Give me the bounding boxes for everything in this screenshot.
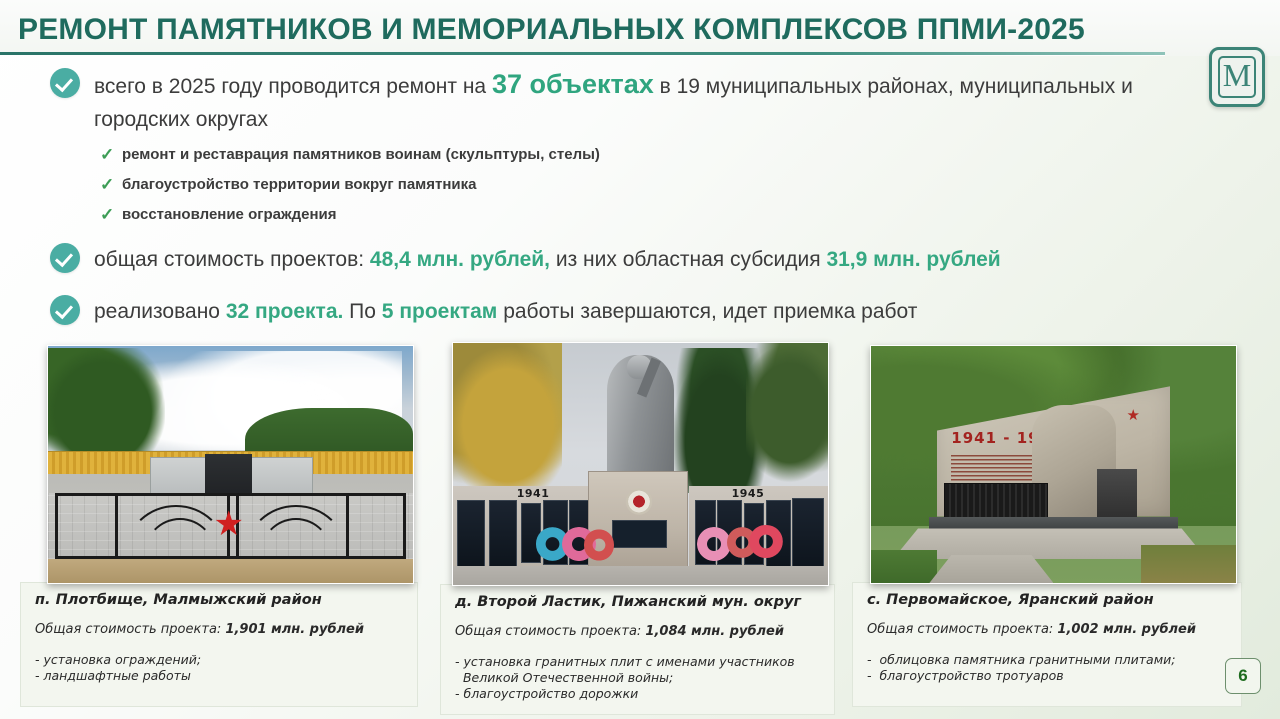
done-part2: По xyxy=(343,300,381,323)
done-part1: реализовано xyxy=(94,300,226,323)
done-part3: работы завершаются, идет приемка работ xyxy=(497,300,917,323)
bullet-objects-part1: всего в 2025 году проводится ремонт на xyxy=(94,75,492,98)
year-1945-label: 1945 xyxy=(732,487,765,500)
objects-count: 37 xyxy=(492,69,522,99)
year-1941-label: 1941 xyxy=(517,487,550,500)
project-card-2: 1941 1945 д. Второй Ластик, Пижанский xyxy=(440,584,835,715)
ministry-logo: М xyxy=(1209,47,1265,107)
done-count: 32 xyxy=(226,300,249,323)
pending-count: 5 xyxy=(382,300,394,323)
project-work-item: - установка ограждений; xyxy=(35,652,405,668)
check-icon xyxy=(50,295,80,325)
project-location: д. Второй Ластик, Пижанский мун. округ xyxy=(455,594,822,611)
bullet-completed: реализовано 32 проекта. По 5 проектам ра… xyxy=(50,295,1230,328)
project-works: - облицовка памятника гранитными плитами… xyxy=(867,652,1229,684)
project-caption-3: с. Первомайское, Яранский район Общая ст… xyxy=(852,582,1242,707)
sub-bullet-item: ✓ ремонт и реставрация памятников воинам… xyxy=(100,146,600,164)
page-title: РЕМОНТ ПАМЯТНИКОВ И МЕМОРИАЛЬНЫХ КОМПЛЕК… xyxy=(18,13,1085,47)
page-number-badge: 6 xyxy=(1225,658,1261,694)
project-cost-label: Общая стоимость проекта: xyxy=(455,624,645,639)
cost-part2: из них областная субсидия xyxy=(550,248,826,271)
sub-bullet-label: благоустройство территории вокруг памятн… xyxy=(122,176,477,194)
project-cost-label: Общая стоимость проекта: xyxy=(35,622,225,637)
project-work-item: - установка гранитных плит с именами уча… xyxy=(455,654,822,670)
title-divider xyxy=(0,52,1165,55)
project-works: - установка гранитных плит с именами уча… xyxy=(455,654,822,702)
project-location: п. Плотбище, Малмыжский район xyxy=(35,592,405,609)
check-icon xyxy=(50,243,80,273)
project-work-item: Великой Отечественной войны; xyxy=(455,670,822,686)
slide-header: РЕМОНТ ПАМЯТНИКОВ И МЕМОРИАЛЬНЫХ КОМПЛЕК… xyxy=(0,0,1280,56)
checkmark-icon: ✓ xyxy=(100,146,115,164)
order-of-victory-icon xyxy=(622,487,656,516)
project-caption-2: д. Второй Ластик, Пижанский мун. округ О… xyxy=(440,584,835,715)
bullet-objects-text: всего в 2025 году проводится ремонт на 3… xyxy=(94,68,1210,136)
project-photo-3: 1941 - 1945 ★ xyxy=(870,345,1237,584)
done-count-word: проекта. xyxy=(249,300,343,323)
project-cost-label: Общая стоимость проекта: xyxy=(867,622,1057,637)
logo-letter: М xyxy=(1220,59,1254,91)
project-photo-2: 1941 1945 xyxy=(452,342,829,586)
cost-total-value: 48,4 млн. рублей, xyxy=(370,248,550,271)
project-card-1: п. Плотбище, Малмыжский район Общая стои… xyxy=(20,582,418,707)
pending-count-word: проектам xyxy=(393,300,497,323)
project-work-item: - ландшафтные работы xyxy=(35,668,405,684)
checkmark-icon: ✓ xyxy=(100,206,115,224)
project-cost: Общая стоимость проекта: 1,084 млн. рубл… xyxy=(455,624,822,640)
project-location: с. Первомайское, Яранский район xyxy=(867,592,1229,609)
logo-frame-icon: М xyxy=(1218,56,1256,98)
project-cost: Общая стоимость проекта: 1,002 млн. рубл… xyxy=(867,622,1229,638)
project-photo-1 xyxy=(47,345,414,584)
sub-bullet-list: ✓ ремонт и реставрация памятников воинам… xyxy=(100,146,600,236)
project-cost-value: 1,084 млн. рублей xyxy=(645,624,784,639)
project-work-item: - облицовка памятника гранитными плитами… xyxy=(867,652,1229,668)
slide-root: РЕМОНТ ПАМЯТНИКОВ И МЕМОРИАЛЬНЫХ КОМПЛЕК… xyxy=(0,0,1280,719)
sub-bullet-item: ✓ восстановление ограждения xyxy=(100,206,600,224)
project-card-3: 1941 - 1945 ★ с. Первомайское, Яранский … xyxy=(852,582,1242,707)
project-work-item: - благоустройство тротуаров xyxy=(867,668,1229,684)
project-cost-value: 1,901 млн. рублей xyxy=(225,622,364,637)
sub-bullet-label: ремонт и реставрация памятников воинам (… xyxy=(122,146,600,164)
bullet-objects: всего в 2025 году проводится ремонт на 3… xyxy=(50,68,1210,136)
bullet-done-text: реализовано 32 проекта. По 5 проектам ра… xyxy=(94,295,917,328)
bullet-cost-text: общая стоимость проектов: 48,4 млн. рубл… xyxy=(94,243,1001,276)
red-star-icon: ★ xyxy=(1127,408,1140,423)
cost-subsidy-value: 31,9 млн. рублей xyxy=(826,248,1000,271)
project-cost-value: 1,002 млн. рублей xyxy=(1057,622,1196,637)
sub-bullet-label: восстановление ограждения xyxy=(122,206,337,224)
checkmark-icon: ✓ xyxy=(100,176,115,194)
objects-count-word: объектах xyxy=(522,69,654,99)
cost-part1: общая стоимость проектов: xyxy=(94,248,370,271)
project-works: - установка ограждений; - ландшафтные ра… xyxy=(35,652,405,684)
project-caption-1: п. Плотбище, Малмыжский район Общая стои… xyxy=(20,582,418,707)
project-work-item: - благоустройство дорожки xyxy=(455,686,822,702)
check-icon xyxy=(50,68,80,98)
bullet-total-cost: общая стоимость проектов: 48,4 млн. рубл… xyxy=(50,243,1260,276)
sub-bullet-item: ✓ благоустройство территории вокруг памя… xyxy=(100,176,600,194)
project-cost: Общая стоимость проекта: 1,901 млн. рубл… xyxy=(35,622,405,638)
